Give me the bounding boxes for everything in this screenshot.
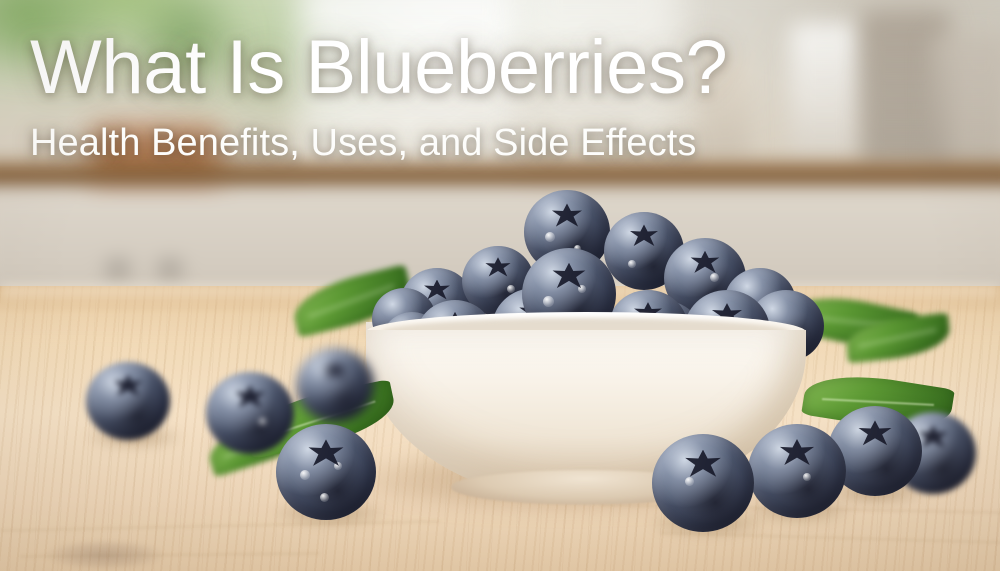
water-droplet [578,285,586,293]
water-droplet [300,470,310,480]
kitchen-appliance-right [930,34,1000,171]
water-droplet [628,260,636,268]
water-droplet [685,477,694,486]
water-droplet [334,462,342,470]
water-droplet [543,296,554,307]
page-title: What Is Blueberries? [30,30,930,106]
wood-knot [45,540,165,570]
water-droplet [259,418,267,426]
water-droplet [803,473,811,481]
article-hero-banner: What Is Blueberries? Health Benefits, Us… [0,0,1000,571]
page-subtitle: Health Benefits, Uses, and Side Effects [30,124,930,164]
berry-on-table-front [276,424,376,520]
berry-on-table-right [652,434,754,532]
water-droplet [545,232,555,242]
cabinet-handle-left [110,264,126,275]
hero-text-overlay: What Is Blueberries? Health Benefits, Us… [30,30,930,164]
berry-on-table [206,372,294,454]
water-droplet [320,493,329,502]
water-droplet [710,273,719,282]
berry-on-table [86,362,170,440]
cabinet-handle-right [162,264,178,275]
berry-on-table-back [296,348,374,422]
berry-on-table-right [748,424,846,518]
